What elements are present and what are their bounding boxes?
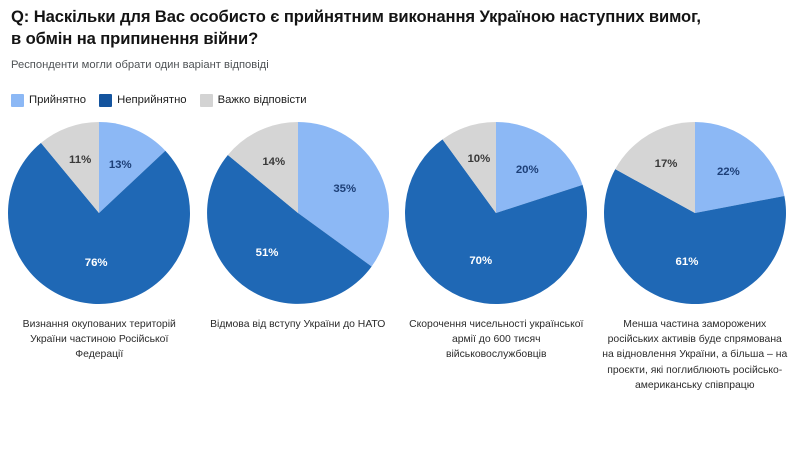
pie-chart-svg <box>604 122 786 304</box>
pie-chart-cell: 22%61%17%Менша частина заморожених росій… <box>596 122 794 393</box>
page-title: Q: Наскільки для Вас особисто є прийнятн… <box>11 6 711 50</box>
pie-chart-svg <box>405 122 587 304</box>
legend-swatch-icon <box>200 94 213 107</box>
legend-swatch-icon <box>11 94 24 107</box>
pie-chart: 20%70%10% <box>405 122 587 304</box>
pie-chart-svg <box>207 122 389 304</box>
legend-item-label: Важко відповісти <box>218 95 307 106</box>
pie-chart: 13%76%11% <box>8 122 190 304</box>
pie-chart-svg <box>8 122 190 304</box>
pie-chart-cell: 13%76%11%Визнання окупованих територій У… <box>0 122 199 393</box>
chart-page: Q: Наскільки для Вас особисто є прийнятн… <box>0 0 794 455</box>
legend-item[interactable]: Важко відповісти <box>200 94 307 107</box>
legend-item[interactable]: Неприйнятно <box>99 94 187 107</box>
chart-subtitle: Респонденти могли обрати один варіант ві… <box>11 59 784 72</box>
legend-item-label: Прийнятно <box>29 95 86 106</box>
chart-legend: ПрийнятноНеприйнятноВажко відповісти <box>11 94 307 107</box>
pie-chart: 35%51%14% <box>207 122 389 304</box>
chart-header: Q: Наскільки для Вас особисто є прийнятн… <box>11 6 784 73</box>
pie-chart-row: 13%76%11%Визнання окупованих територій У… <box>0 122 794 393</box>
pie-chart-cell: 20%70%10%Скорочення чисельності українсь… <box>397 122 596 393</box>
legend-item-label: Неприйнятно <box>117 95 187 106</box>
pie-chart-caption: Визнання окупованих територій України ча… <box>6 317 192 363</box>
pie-chart-caption: Скорочення чисельності української армії… <box>403 317 589 363</box>
pie-chart-caption: Відмова від вступу України до НАТО <box>205 317 391 332</box>
legend-item[interactable]: Прийнятно <box>11 94 86 107</box>
pie-chart-caption: Менша частина заморожених російських акт… <box>602 317 788 393</box>
pie-chart-cell: 35%51%14%Відмова від вступу України до Н… <box>199 122 398 393</box>
pie-chart: 22%61%17% <box>604 122 786 304</box>
legend-swatch-icon <box>99 94 112 107</box>
